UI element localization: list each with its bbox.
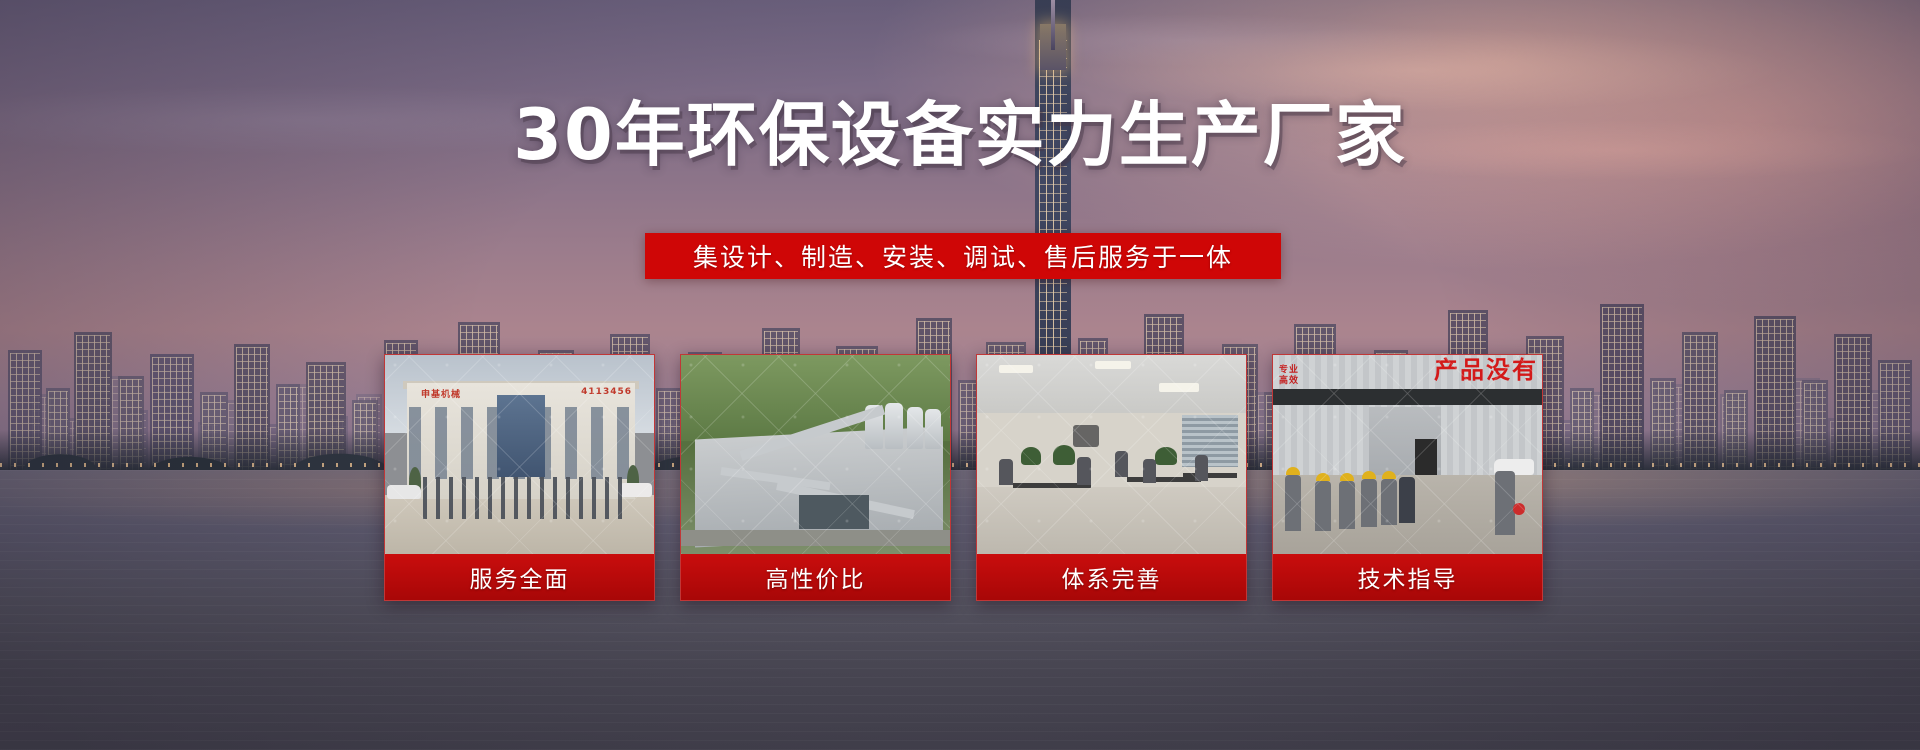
- feature-card[interactable]: 产品没有 专业高效: [1272, 354, 1543, 601]
- subtitle-banner: 集设计、制造、安装、调试、售后服务于一体: [645, 233, 1281, 279]
- feature-card-caption: 高性价比: [681, 554, 950, 600]
- subtitle-text: 集设计、制造、安装、调试、售后服务于一体: [693, 238, 1233, 274]
- photo-phone-sign: 4113456: [581, 387, 632, 397]
- feature-card-list: 申基机械 4113456 服务全面: [384, 354, 1544, 601]
- hero-banner: 30年环保设备实力生产厂家 集设计、制造、安装、调试、售后服务于一体 申基机械 …: [0, 0, 1920, 750]
- feature-card-caption: 服务全面: [385, 554, 654, 600]
- workshop-workers-briefing-photo: 产品没有 专业高效: [1273, 355, 1542, 554]
- company-headquarters-building-photo: 申基机械 4113456: [385, 355, 654, 554]
- page-title: 30年环保设备实力生产厂家: [0, 96, 1920, 174]
- feature-card[interactable]: 高性价比: [680, 354, 951, 601]
- feature-card-caption: 技术指导: [1273, 554, 1542, 600]
- tower-spire: [1051, 0, 1055, 50]
- office-interior-staff-photo: [977, 355, 1246, 554]
- aerial-industrial-plant-photo: [681, 355, 950, 554]
- photo-company-sign: 申基机械: [421, 387, 461, 400]
- feature-card[interactable]: 体系完善: [976, 354, 1247, 601]
- photo-factory-banner: 产品没有: [1434, 357, 1538, 383]
- feature-card[interactable]: 申基机械 4113456 服务全面: [384, 354, 655, 601]
- feature-card-caption: 体系完善: [977, 554, 1246, 600]
